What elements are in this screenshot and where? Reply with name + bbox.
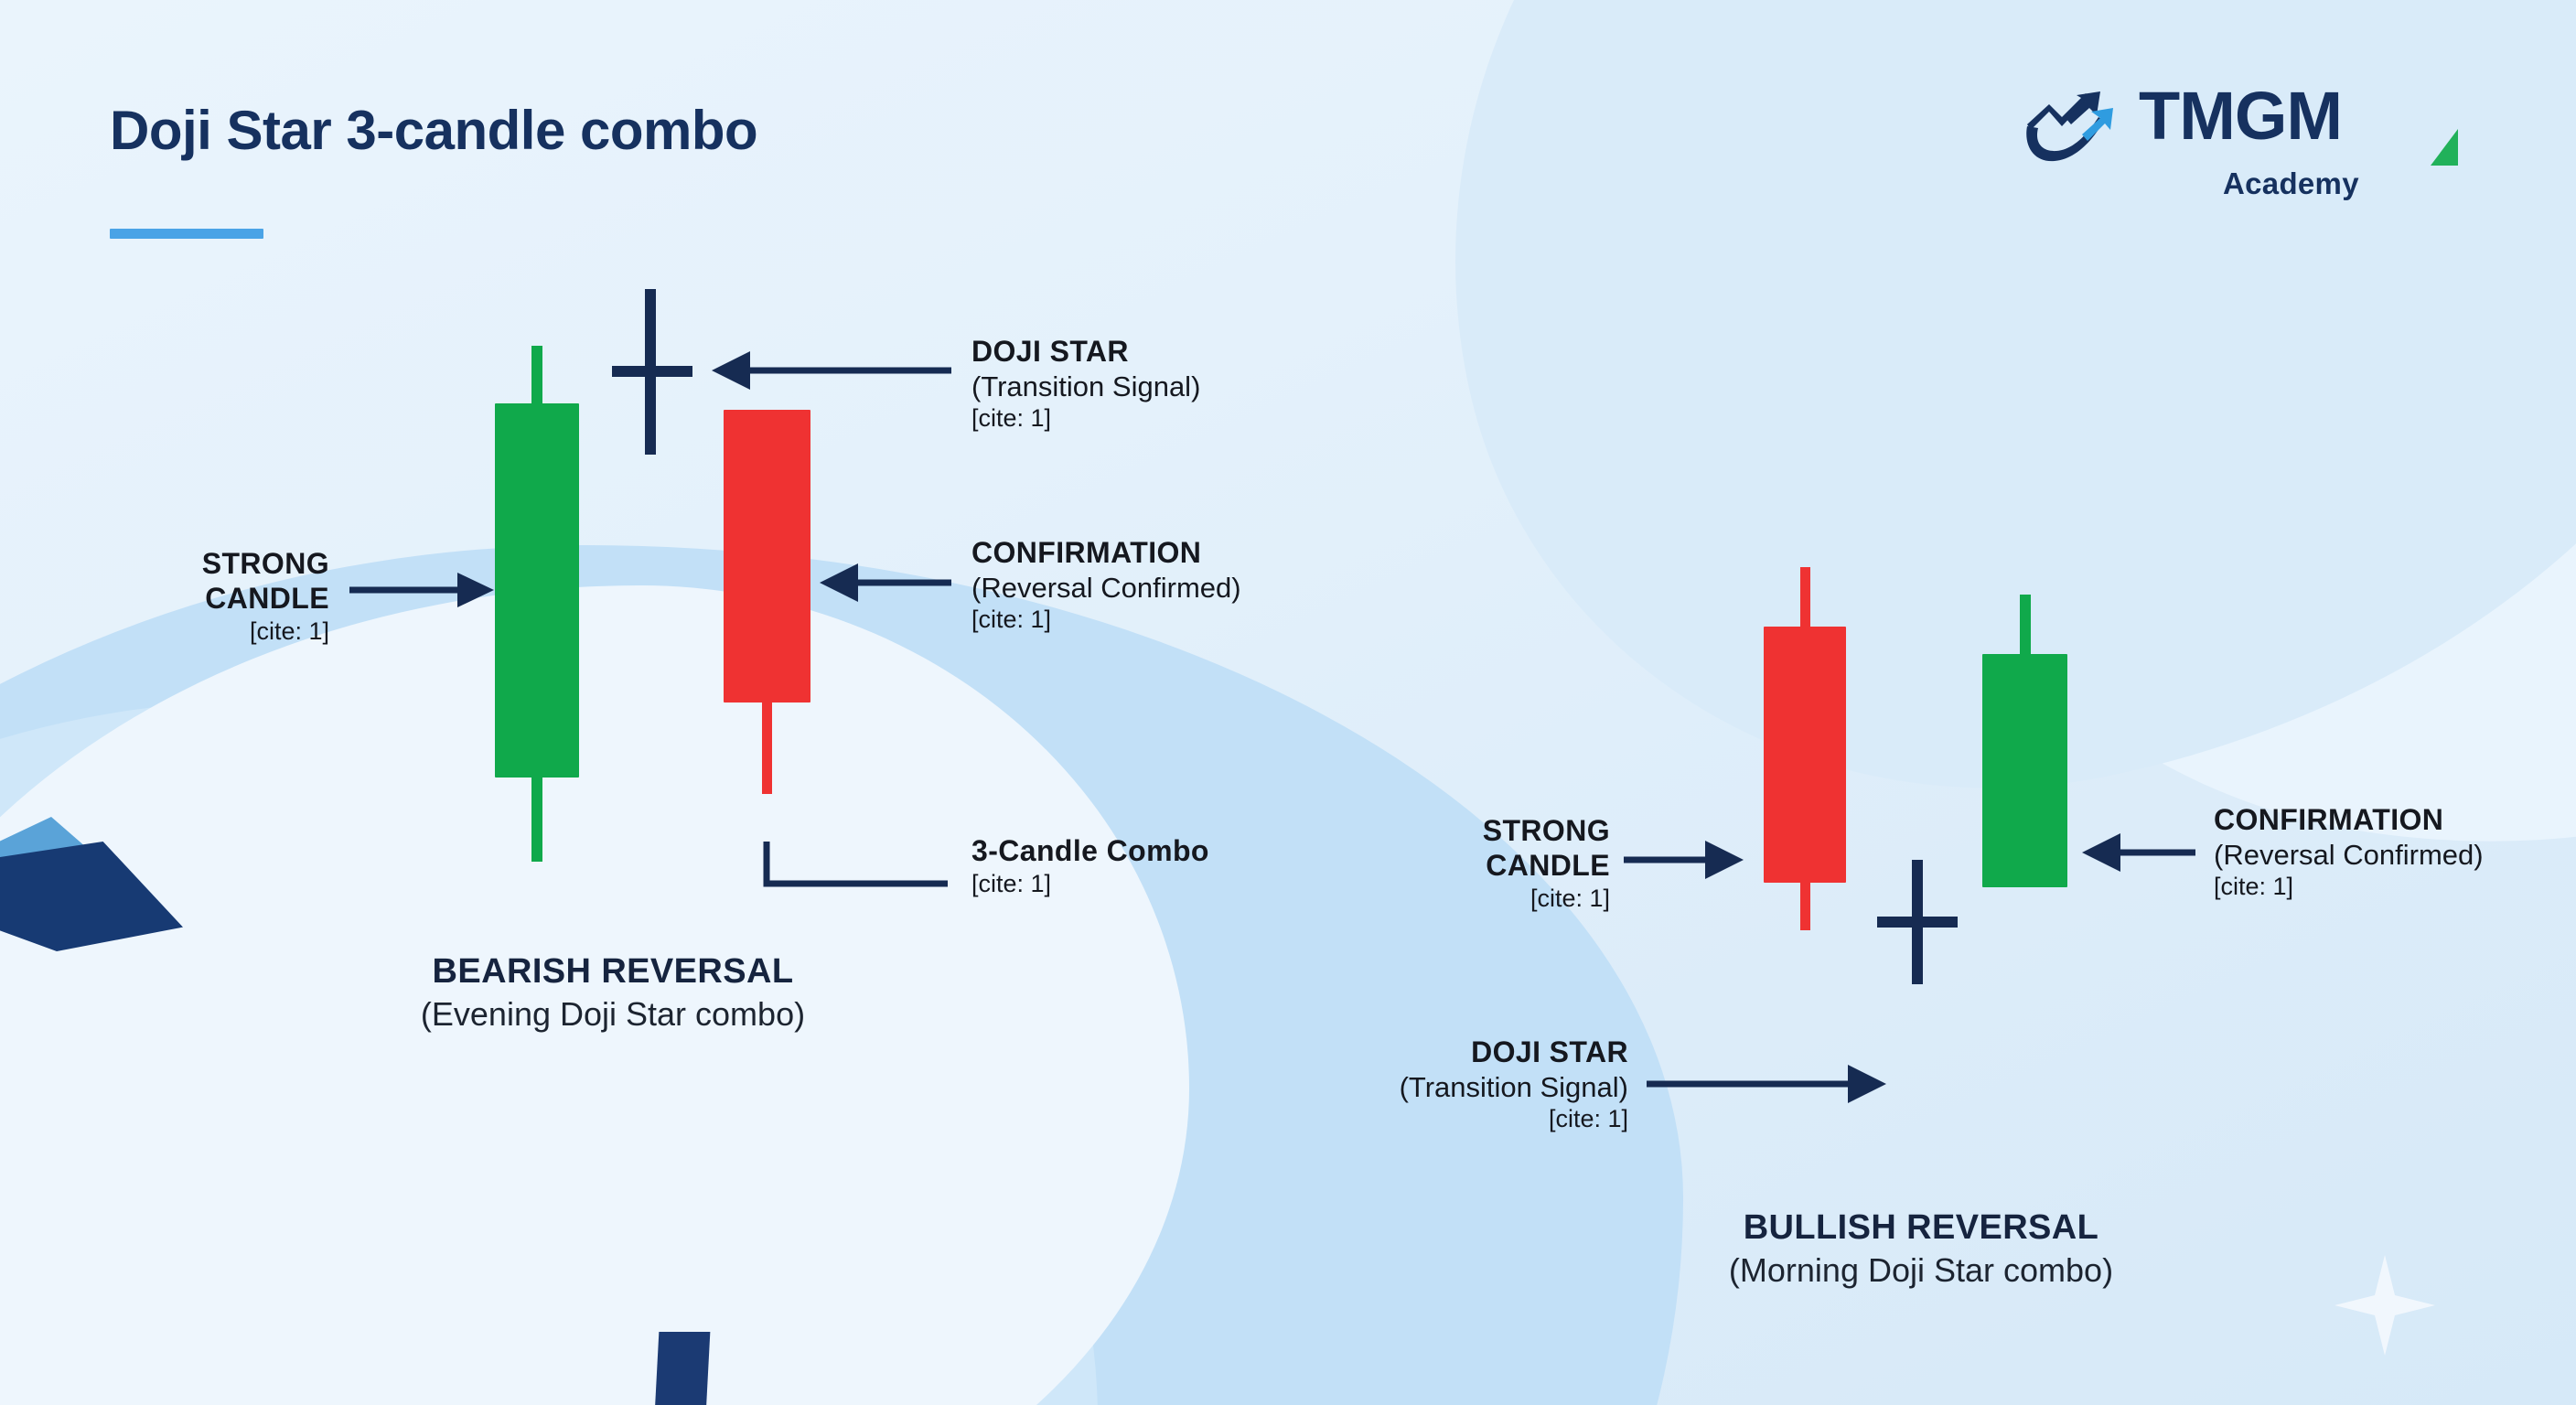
annotation-title: STRONG: [1336, 814, 1610, 849]
annotation-cite: [cite: 1]: [1336, 884, 1610, 913]
annotation-right-doji-star: DOJI STAR (Transition Signal) [cite: 1]: [1299, 1035, 1628, 1133]
left-candle-2-doji-horizontal: [612, 366, 692, 377]
right-candle-3-upper-wick: [2020, 595, 2031, 659]
left-candle-1-lower-wick: [531, 776, 542, 862]
annotation-right-confirmation: CONFIRMATION (Reversal Confirmed) [cite:…: [2214, 803, 2576, 901]
caption-title: BEARISH REVERSAL: [293, 951, 933, 993]
logo-wordmark: TMGM: [2139, 82, 2342, 150]
right-candle-2-doji-horizontal: [1877, 917, 1958, 928]
annotation-title: CONFIRMATION: [2214, 803, 2576, 838]
annotation-sub: (Transition Signal): [971, 370, 1484, 403]
annotation-left-confirmation: CONFIRMATION (Reversal Confirmed) [cite:…: [971, 536, 1520, 634]
annotation-title: DOJI STAR: [1299, 1035, 1628, 1070]
annotation-sub: (Reversal Confirmed): [2214, 838, 2576, 872]
annotation-cite: [cite: 1]: [2214, 872, 2576, 901]
left-candle-1-body-bullish: [495, 403, 579, 778]
left-candle-3-lower-wick: [762, 701, 772, 794]
logo-subtext: Academy: [2223, 166, 2359, 201]
caption-title: BULLISH REVERSAL: [1601, 1207, 2241, 1249]
left-candle-1-upper-wick: [531, 346, 542, 405]
annotation-title: STRONG: [55, 547, 329, 582]
caption-sub: (Morning Doji Star combo): [1601, 1249, 2241, 1291]
annotation-cite: [cite: 1]: [55, 617, 329, 646]
logo-accent-mark: [2431, 129, 2458, 166]
title-underline: [110, 229, 263, 239]
right-candle-3-body-bullish: [1982, 654, 2067, 887]
annotation-title-line2: CANDLE: [1336, 849, 1610, 884]
left-candle-3-body-bearish: [724, 410, 810, 702]
annotation-cite: [cite: 1]: [1299, 1104, 1628, 1133]
annotation-sub: (Reversal Confirmed): [971, 571, 1520, 605]
annotation-sub: (Transition Signal): [1299, 1070, 1628, 1104]
annotation-title: CONFIRMATION: [971, 536, 1520, 571]
decor-navy-bar: [655, 1332, 711, 1405]
right-candle-1-upper-wick: [1800, 567, 1810, 631]
annotation-cite: [cite: 1]: [971, 403, 1484, 433]
annotation-left-strong-candle: STRONG CANDLE [cite: 1]: [55, 547, 329, 646]
caption-bearish-reversal: BEARISH REVERSAL (Evening Doji Star comb…: [293, 951, 933, 1035]
right-candle-1-body-bearish: [1764, 627, 1846, 883]
annotation-left-doji-star: DOJI STAR (Transition Signal) [cite: 1]: [971, 335, 1484, 433]
annotation-cite: [cite: 1]: [971, 605, 1520, 634]
annotation-right-strong-candle: STRONG CANDLE [cite: 1]: [1336, 814, 1610, 913]
page-title: Doji Star 3-candle combo: [110, 99, 757, 162]
caption-sub: (Evening Doji Star combo): [293, 993, 933, 1035]
brand-logo[interactable]: TMGM Academy: [2022, 88, 2506, 207]
infographic-canvas: Doji Star 3-candle combo TMGM Academy: [0, 0, 2576, 1405]
upward-trend-arrow-icon: [2022, 90, 2130, 168]
annotation-title: DOJI STAR: [971, 335, 1484, 370]
right-candle-1-lower-wick: [1800, 881, 1810, 930]
caption-bullish-reversal: BULLISH REVERSAL (Morning Doji Star comb…: [1601, 1207, 2241, 1291]
annotation-title-line2: CANDLE: [55, 582, 329, 617]
